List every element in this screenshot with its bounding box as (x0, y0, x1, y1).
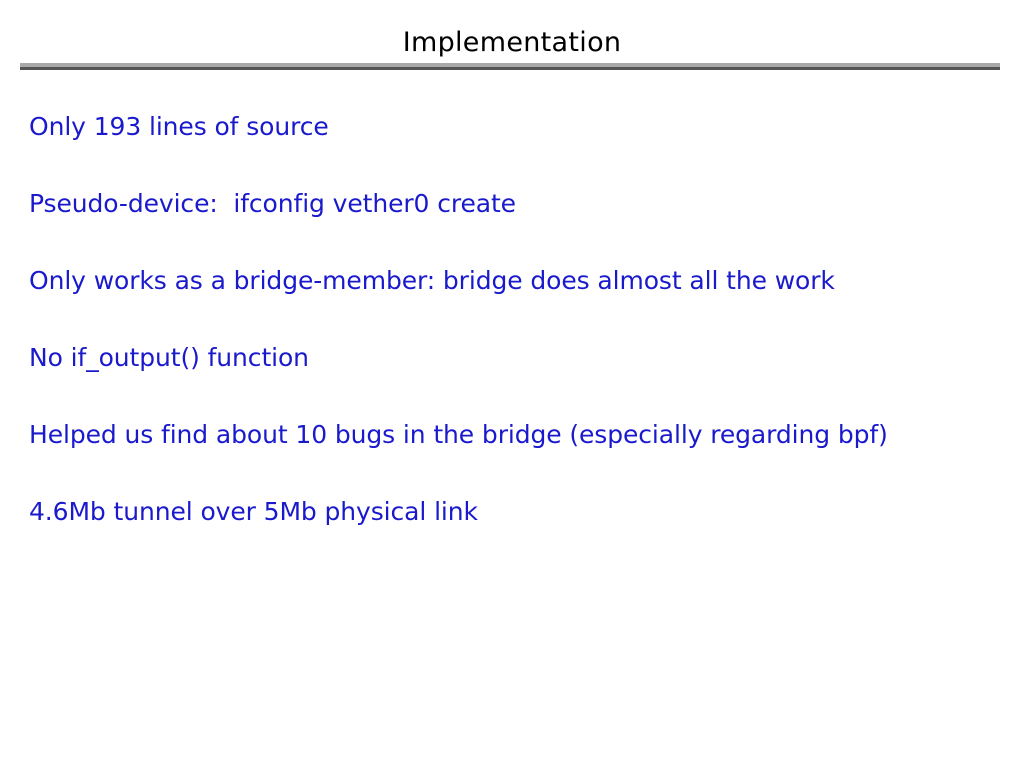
slide-body-list: Only 193 lines of source Pseudo-device: … (29, 112, 1004, 527)
slide-title: Implementation (0, 26, 1024, 60)
body-line-4: No if_output() function (29, 343, 1004, 373)
title-divider-rule (20, 63, 1000, 70)
body-line-6: 4.6Mb tunnel over 5Mb physical link (29, 497, 1004, 527)
presentation-slide: Implementation Only 193 lines of source … (0, 0, 1024, 768)
body-line-2: Pseudo-device: ifconfig vether0 create (29, 189, 1004, 219)
body-line-5: Helped us find about 10 bugs in the brid… (29, 420, 1004, 450)
rule-shadow-band (20, 67, 1000, 70)
body-line-1: Only 193 lines of source (29, 112, 1004, 142)
body-line-3: Only works as a bridge-member: bridge do… (29, 266, 1004, 296)
